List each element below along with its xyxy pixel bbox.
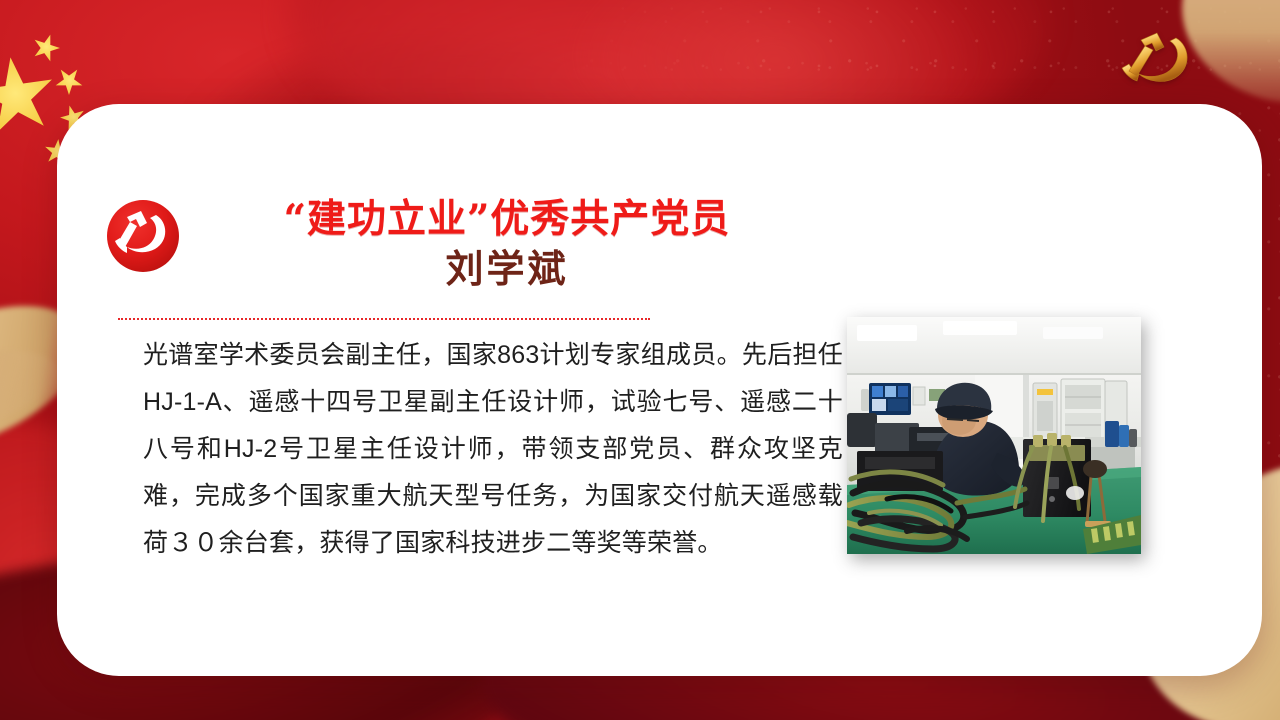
lab-photo (847, 317, 1141, 554)
party-emblem-badge-icon (104, 197, 182, 275)
title-block: “建功立业”优秀共产党员 刘学斌 (197, 196, 817, 292)
person-name: 刘学斌 (197, 246, 817, 292)
dotted-divider (118, 318, 650, 320)
gold-hammer-sickle-emblem-icon (1112, 24, 1204, 96)
page-title: “建功立业”优秀共产党员 (197, 196, 817, 242)
photo-frame (847, 317, 1141, 554)
content-card: “建功立业”优秀共产党员 刘学斌 光谱室学术委员会副主任，国家863计划专家组成… (57, 104, 1262, 676)
slide-root: “建功立业”优秀共产党员 刘学斌 光谱室学术委员会副主任，国家863计划专家组成… (0, 0, 1280, 720)
biography-text: 光谱室学术委员会副主任，国家863计划专家组成员。先后担任HJ-1-A、遥感十四… (143, 332, 843, 567)
